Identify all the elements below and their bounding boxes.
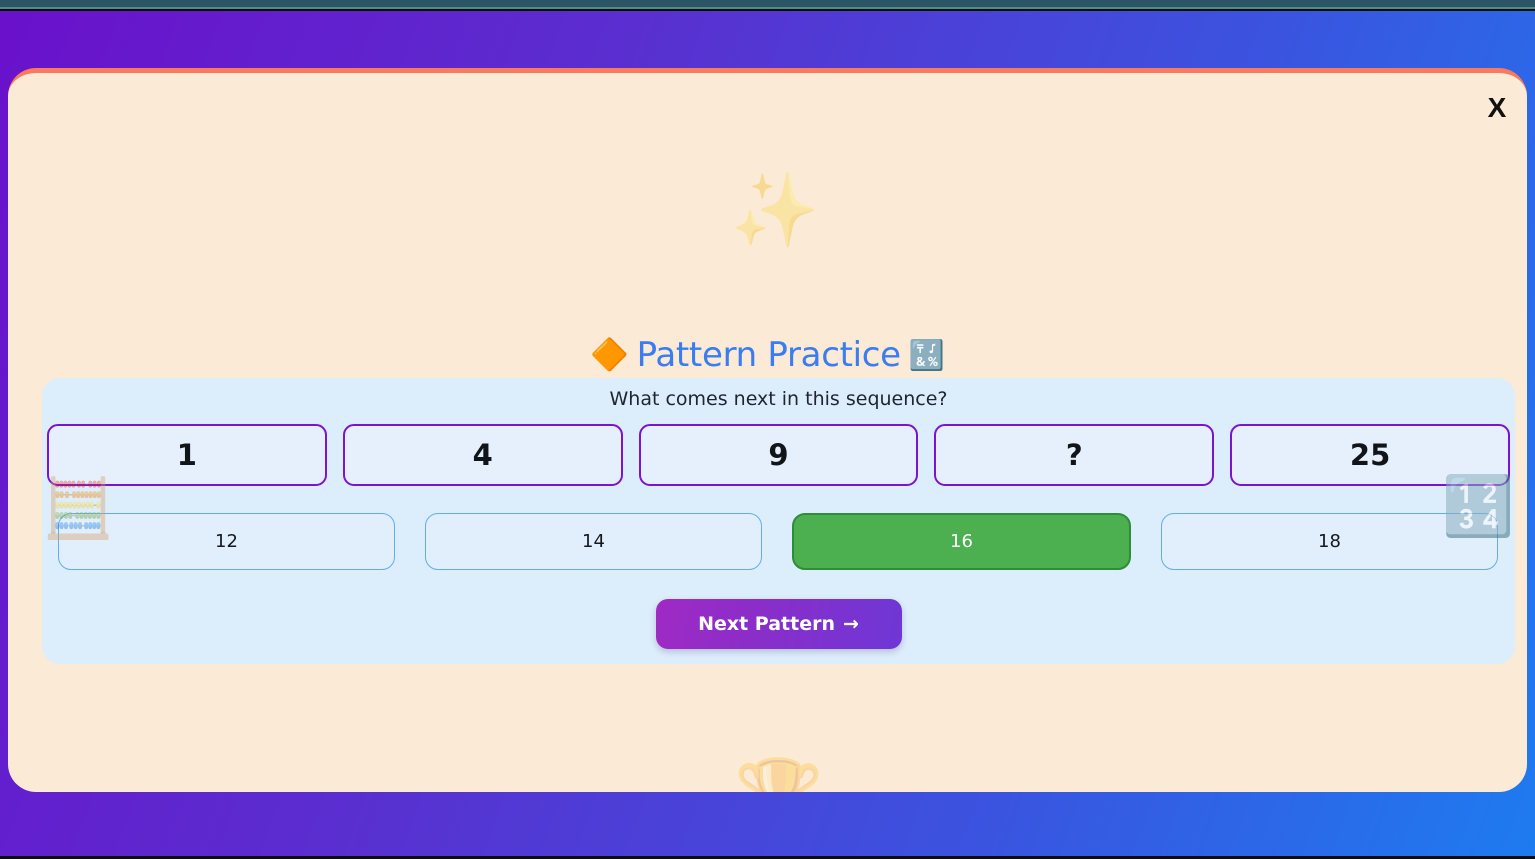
- abacus-icon: 🧮: [42, 479, 114, 537]
- next-button-wrap: Next Pattern →: [42, 599, 1515, 649]
- options-row: 12141618: [58, 513, 1498, 570]
- sequence-cell: ?: [934, 424, 1214, 486]
- next-pattern-label: Next Pattern: [698, 613, 835, 635]
- pattern-practice-modal: X ✨ 🔶 Pattern Practice 🔣 🧮 🔢 What comes …: [8, 68, 1527, 792]
- sequence-cell: 4: [343, 424, 623, 486]
- shapes-icon: 🔶: [590, 340, 629, 371]
- input-numbers-icon: 🔢: [1442, 477, 1514, 535]
- sparkles-icon: ✨: [730, 174, 820, 246]
- page-title: 🔶 Pattern Practice 🔣: [8, 335, 1527, 375]
- practice-panel: What comes next in this sequence? 149?25…: [42, 378, 1515, 664]
- answer-option-16[interactable]: 16: [792, 513, 1131, 570]
- trophy-icon: 🏆: [734, 760, 824, 792]
- arrow-right-icon: →: [843, 613, 859, 635]
- question-text: What comes next in this sequence?: [42, 388, 1515, 410]
- answer-option-14[interactable]: 14: [425, 513, 762, 570]
- close-icon[interactable]: X: [1479, 90, 1515, 126]
- sequence-cell: 9: [639, 424, 919, 486]
- page-title-label: Pattern Practice: [637, 335, 901, 375]
- browser-chrome-strip: [0, 0, 1535, 9]
- next-pattern-button[interactable]: Next Pattern →: [656, 599, 902, 649]
- input-symbols-icon: 🔣: [909, 341, 945, 370]
- sequence-row: 149?25: [47, 424, 1510, 486]
